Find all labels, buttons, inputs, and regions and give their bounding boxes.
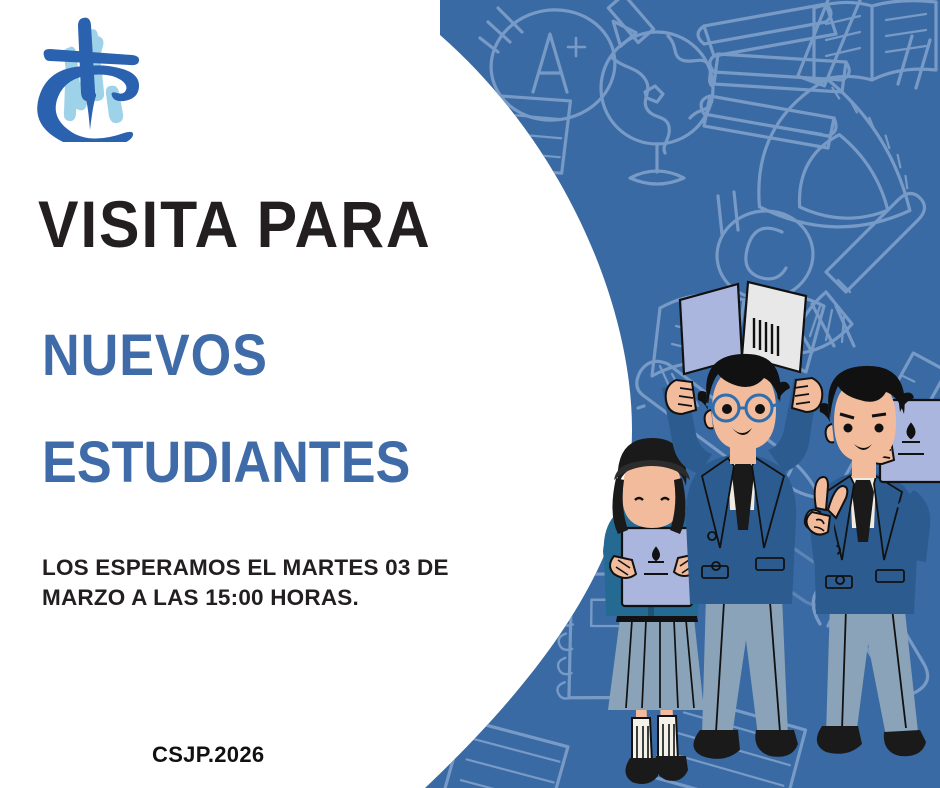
csjp-school-logo [26, 12, 156, 142]
poster-text-content: VISITA PARA NUEVOS ESTUDIANTES LOS ESPER… [0, 0, 560, 788]
event-details-text: LOS ESPERAMOS EL MARTES 03 DE MARZO A LA… [42, 553, 512, 613]
sparkle-lines-icon [638, 406, 644, 408]
footer-code: CSJP.2026 [152, 742, 264, 768]
poster-canvas: VISITA PARA NUEVOS ESTUDIANTES LOS ESPER… [0, 0, 940, 788]
headline-nuevos: NUEVOS [42, 327, 268, 385]
headline-estudiantes: ESTUDIANTES [42, 434, 410, 492]
headline-visita-para: VISITA PARA [38, 191, 432, 257]
